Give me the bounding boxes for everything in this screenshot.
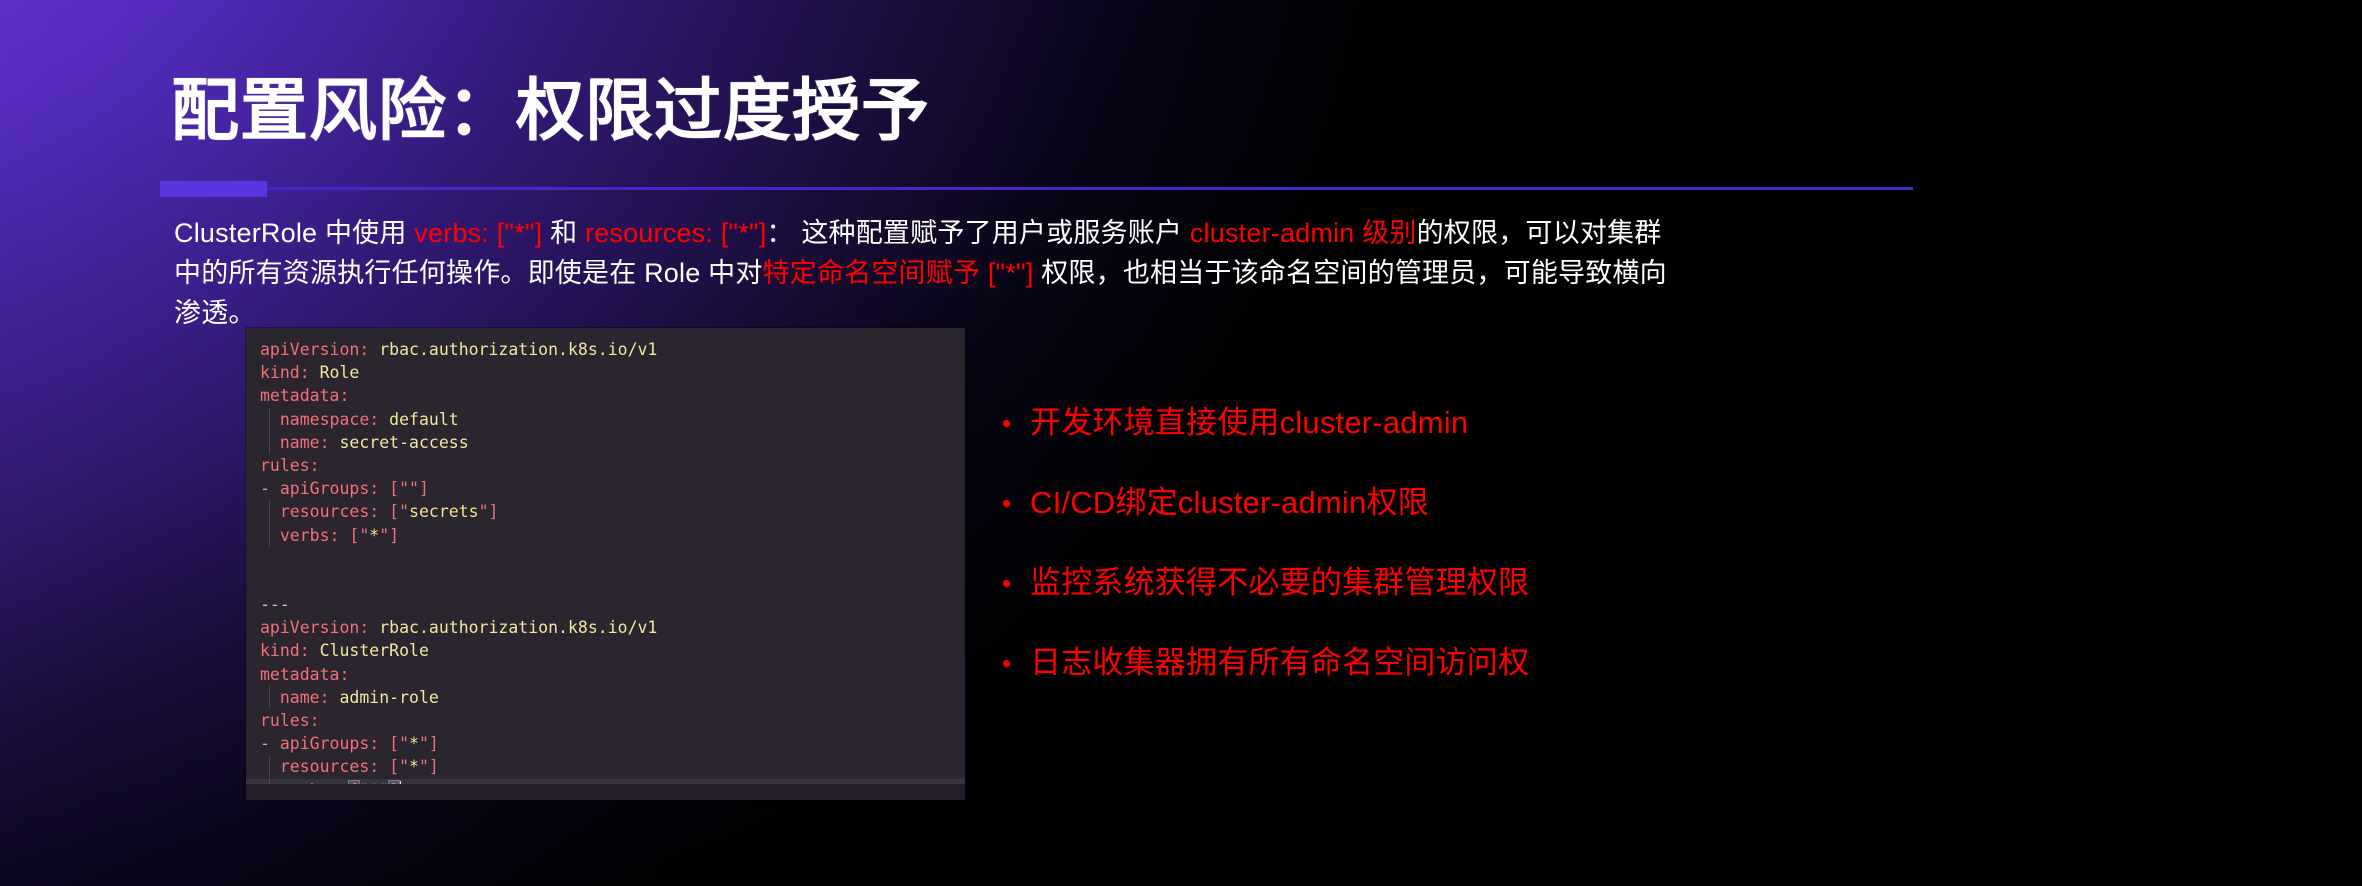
code-token-bracket-open: [: [349, 526, 359, 545]
slide-canvas: 配置风险：权限过度授予 ClusterRole 中使用 verbs: ["*"]…: [0, 0, 2362, 886]
code-token-bracket-close: ]: [389, 526, 399, 545]
code-token-doc-separator: ---: [260, 595, 290, 614]
body-highlight-text: cluster-admin 级别: [1190, 218, 1417, 248]
code-token-indent: [260, 433, 280, 452]
bullet-list: •开发环境直接使用cluster-admin•CI/CD绑定cluster-ad…: [1002, 404, 1902, 724]
code-token-list-dash: -: [260, 479, 280, 498]
body-highlight-text: verbs: ["*"]: [414, 218, 542, 248]
code-token-quote: ": [399, 479, 409, 498]
code-token-key: verbs:: [280, 526, 350, 545]
code-footer-strip: [246, 784, 965, 800]
code-line: rules:: [246, 709, 965, 732]
list-item: •开发环境直接使用cluster-admin: [1002, 404, 1902, 484]
code-token-string: *: [409, 757, 419, 776]
code-line: rules:: [246, 454, 965, 477]
body-paragraph: ClusterRole 中使用 verbs: ["*"] 和 resources…: [174, 213, 1674, 333]
code-token-quote: ": [399, 502, 409, 521]
code-token-value: admin-role: [339, 688, 438, 707]
code-token-key: rules:: [260, 711, 320, 730]
code-lines: apiVersion: rbac.authorization.k8s.io/v1…: [246, 328, 965, 800]
page-title: 配置风险：权限过度授予: [171, 75, 930, 148]
code-line: [246, 570, 965, 593]
code-token-key: metadata:: [260, 386, 349, 405]
code-token-indent: [260, 502, 280, 521]
code-line: name: secret-access: [246, 431, 965, 454]
bullet-marker-icon: •: [1002, 404, 1030, 442]
code-line: ---: [246, 593, 965, 616]
code-line: kind: Role: [246, 361, 965, 384]
bullet-label: 监控系统获得不必要的集群管理权限: [1030, 564, 1529, 602]
code-line: apiVersion: rbac.authorization.k8s.io/v1: [246, 338, 965, 361]
code-token-bracket-open: [: [389, 502, 399, 521]
list-item: •日志收集器拥有所有命名空间访问权: [1002, 644, 1902, 724]
body-text: 和: [542, 218, 585, 248]
bullet-label: 开发环境直接使用cluster-admin: [1030, 404, 1468, 442]
code-line: metadata:: [246, 663, 965, 686]
list-item: •监控系统获得不必要的集群管理权限: [1002, 564, 1902, 644]
body-text: ClusterRole 中使用: [174, 218, 414, 248]
code-token-bracket-close: ]: [429, 734, 439, 753]
code-line: - apiGroups: [""]: [246, 477, 965, 500]
code-token-value: rbac.authorization.k8s.io/v1: [379, 340, 657, 359]
code-token-quote: ": [419, 757, 429, 776]
code-token-quote: ": [379, 526, 389, 545]
code-line: resources: ["*"]: [246, 755, 965, 778]
code-token-key: name:: [280, 688, 340, 707]
code-block[interactable]: apiVersion: rbac.authorization.k8s.io/v1…: [246, 328, 965, 800]
code-token-value: secret-access: [339, 433, 468, 452]
body-text: ： 这种配置赋予了用户或服务账户: [766, 218, 1189, 248]
code-token-bracket-close: ]: [429, 757, 439, 776]
code-token-string: *: [369, 526, 379, 545]
code-token-key: apiVersion:: [260, 618, 379, 637]
code-token-key: metadata:: [260, 665, 349, 684]
code-token-key: namespace:: [280, 410, 389, 429]
code-token-indent: [260, 688, 280, 707]
code-token-quote: ": [359, 526, 369, 545]
body-highlight-text: 特定命名空间赋予 ["*"]: [763, 258, 1034, 288]
code-token-string: *: [409, 734, 419, 753]
code-token-indent: [260, 757, 280, 776]
bullet-label: 日志收集器拥有所有命名空间访问权: [1030, 644, 1529, 682]
code-token-bracket-open: [: [389, 734, 399, 753]
code-token-quote: ": [399, 734, 409, 753]
code-token-bracket-open: [: [389, 757, 399, 776]
bullet-marker-icon: •: [1002, 644, 1030, 682]
code-token-quote: ": [409, 479, 419, 498]
code-token-key: kind:: [260, 363, 320, 382]
code-token-list-dash: -: [260, 734, 280, 753]
bullet-marker-icon: •: [1002, 564, 1030, 602]
code-token-quote: ": [399, 757, 409, 776]
code-token-string: secrets: [409, 502, 479, 521]
code-line: - apiGroups: ["*"]: [246, 732, 965, 755]
code-token-value: Role: [320, 363, 360, 382]
code-token-key: kind:: [260, 641, 320, 660]
code-line: metadata:: [246, 384, 965, 407]
code-token-quote: ": [419, 734, 429, 753]
code-token-value: default: [389, 410, 459, 429]
code-line: apiVersion: rbac.authorization.k8s.io/v1: [246, 616, 965, 639]
code-token-key: apiGroups:: [280, 734, 389, 753]
divider-line: [160, 187, 1913, 190]
code-line: name: admin-role: [246, 686, 965, 709]
code-token-key: rules:: [260, 456, 320, 475]
code-token-key: resources:: [280, 757, 389, 776]
code-token-value: ClusterRole: [320, 641, 429, 660]
body-highlight-text: resources: ["*"]: [585, 218, 766, 248]
divider-accent-bar: [160, 181, 267, 197]
code-token-quote: ": [479, 502, 489, 521]
code-line: namespace: default: [246, 408, 965, 431]
bullet-label: CI/CD绑定cluster-admin权限: [1030, 484, 1429, 522]
code-line: [246, 547, 965, 570]
bullet-marker-icon: •: [1002, 484, 1030, 522]
code-token-key: apiVersion:: [260, 340, 379, 359]
code-token-key: apiGroups:: [280, 479, 389, 498]
code-token-bracket-close: ]: [489, 502, 499, 521]
code-token-bracket-open: [: [389, 479, 399, 498]
code-token-bracket-close: ]: [419, 479, 429, 498]
code-token-key: name:: [280, 433, 340, 452]
code-line: kind: ClusterRole: [246, 639, 965, 662]
code-line: verbs: ["*"]: [246, 524, 965, 547]
code-token-key: resources:: [280, 502, 389, 521]
code-token-indent: [260, 410, 280, 429]
code-token-indent: [260, 526, 280, 545]
title-divider: [160, 181, 1913, 197]
code-line: resources: ["secrets"]: [246, 500, 965, 523]
code-token-value: rbac.authorization.k8s.io/v1: [379, 618, 657, 637]
list-item: •CI/CD绑定cluster-admin权限: [1002, 484, 1902, 564]
